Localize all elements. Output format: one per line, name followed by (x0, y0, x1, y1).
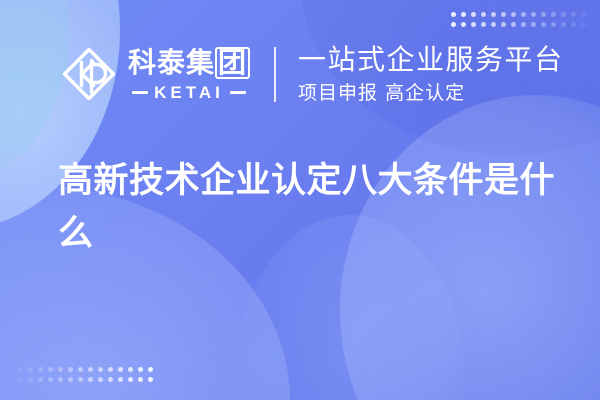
brand-name-en: KETAI (154, 84, 224, 101)
dot (521, 22, 526, 27)
dot (491, 12, 496, 17)
dot-column (48, 367, 53, 382)
dot (481, 12, 486, 17)
dot-column (38, 367, 43, 382)
brand-name-cn-boxed: 团 (215, 47, 250, 79)
dot (461, 12, 466, 17)
dot (18, 377, 23, 382)
dot (38, 377, 43, 382)
dot (98, 377, 103, 382)
ketai-diamond-kd-logo-icon (60, 45, 118, 103)
dot (511, 12, 516, 17)
slogan-sub: 项目申报 高企认定 (298, 82, 564, 105)
dot (128, 377, 133, 382)
dot (471, 12, 476, 17)
dot-column (118, 367, 123, 382)
dot-column (138, 367, 143, 382)
dot (108, 377, 113, 382)
dot (551, 12, 556, 17)
headline: 高新技术企业认定八大条件是什么 (58, 155, 558, 261)
dot (138, 367, 143, 372)
dot (511, 22, 516, 27)
dot-column (461, 12, 466, 27)
dot-column (68, 367, 73, 382)
dot (18, 367, 23, 372)
dot-column (108, 367, 113, 382)
dot (78, 377, 83, 382)
dot-column (511, 12, 516, 27)
dot (128, 367, 133, 372)
banner-header: 科泰集团 KETAI 一站式企业服务平台 项目申报 高企认定 (60, 40, 564, 108)
dot (28, 377, 33, 382)
dot (68, 377, 73, 382)
dot-grid-bottom-left (18, 367, 153, 382)
dot (138, 377, 143, 382)
dot (581, 22, 586, 27)
brand-wordmark: 科泰集团 KETAI (128, 47, 250, 101)
dot-column (561, 12, 566, 27)
dot (571, 22, 576, 27)
dot-grid-top-right (451, 12, 586, 27)
slogan-block: 一站式企业服务平台 项目申报 高企认定 (298, 44, 564, 105)
dot (501, 22, 506, 27)
dot (471, 22, 476, 27)
dot (451, 22, 456, 27)
dot-column (98, 367, 103, 382)
dot-column (481, 12, 486, 27)
dot-column (128, 367, 133, 382)
dot (551, 22, 556, 27)
promo-banner: 科泰集团 KETAI 一站式企业服务平台 项目申报 高企认定 高新技术企业认定八… (0, 0, 600, 400)
header-divider (274, 47, 276, 102)
dot-column (531, 12, 536, 27)
dot-column (491, 12, 496, 27)
brand-name-cn-text: 科泰集 (128, 46, 215, 79)
dot (48, 377, 53, 382)
dot-column (18, 367, 23, 382)
dot (501, 12, 506, 17)
brand-name-cn: 科泰集团 (128, 47, 250, 79)
dot (148, 367, 153, 372)
dot-column (28, 367, 33, 382)
dot (561, 22, 566, 27)
dot (148, 377, 153, 382)
dot-column (521, 12, 526, 27)
dot (118, 367, 123, 372)
dot (531, 22, 536, 27)
dot (561, 12, 566, 17)
dot-column (58, 367, 63, 382)
dot (541, 12, 546, 17)
dot-column (501, 12, 506, 27)
dot (541, 22, 546, 27)
dot (28, 367, 33, 372)
dot-column (471, 12, 476, 27)
dot (481, 22, 486, 27)
dot (118, 377, 123, 382)
dot (48, 367, 53, 372)
dot (451, 12, 456, 17)
dot-column (571, 12, 576, 27)
dot-column (551, 12, 556, 27)
dot (531, 12, 536, 17)
dot (58, 377, 63, 382)
dot (68, 367, 73, 372)
brand-logo-lockup[interactable]: 科泰集团 KETAI (60, 45, 250, 103)
dot (491, 22, 496, 27)
dot (58, 367, 63, 372)
dot (88, 377, 93, 382)
dot-column (581, 12, 586, 27)
dot-column (541, 12, 546, 27)
dot (38, 367, 43, 372)
dot (581, 12, 586, 17)
slogan-main: 一站式企业服务平台 (298, 44, 564, 76)
rule-left (132, 91, 148, 94)
dot-column (148, 367, 153, 382)
dot-column (451, 12, 456, 27)
dot (88, 367, 93, 372)
dot (108, 367, 113, 372)
dot (98, 367, 103, 372)
dot (521, 12, 526, 17)
dot (78, 367, 83, 372)
dot (461, 22, 466, 27)
dot-column (88, 367, 93, 382)
brand-name-en-row: KETAI (132, 84, 246, 101)
rule-right (230, 91, 246, 94)
dot-column (78, 367, 83, 382)
dot (571, 12, 576, 17)
